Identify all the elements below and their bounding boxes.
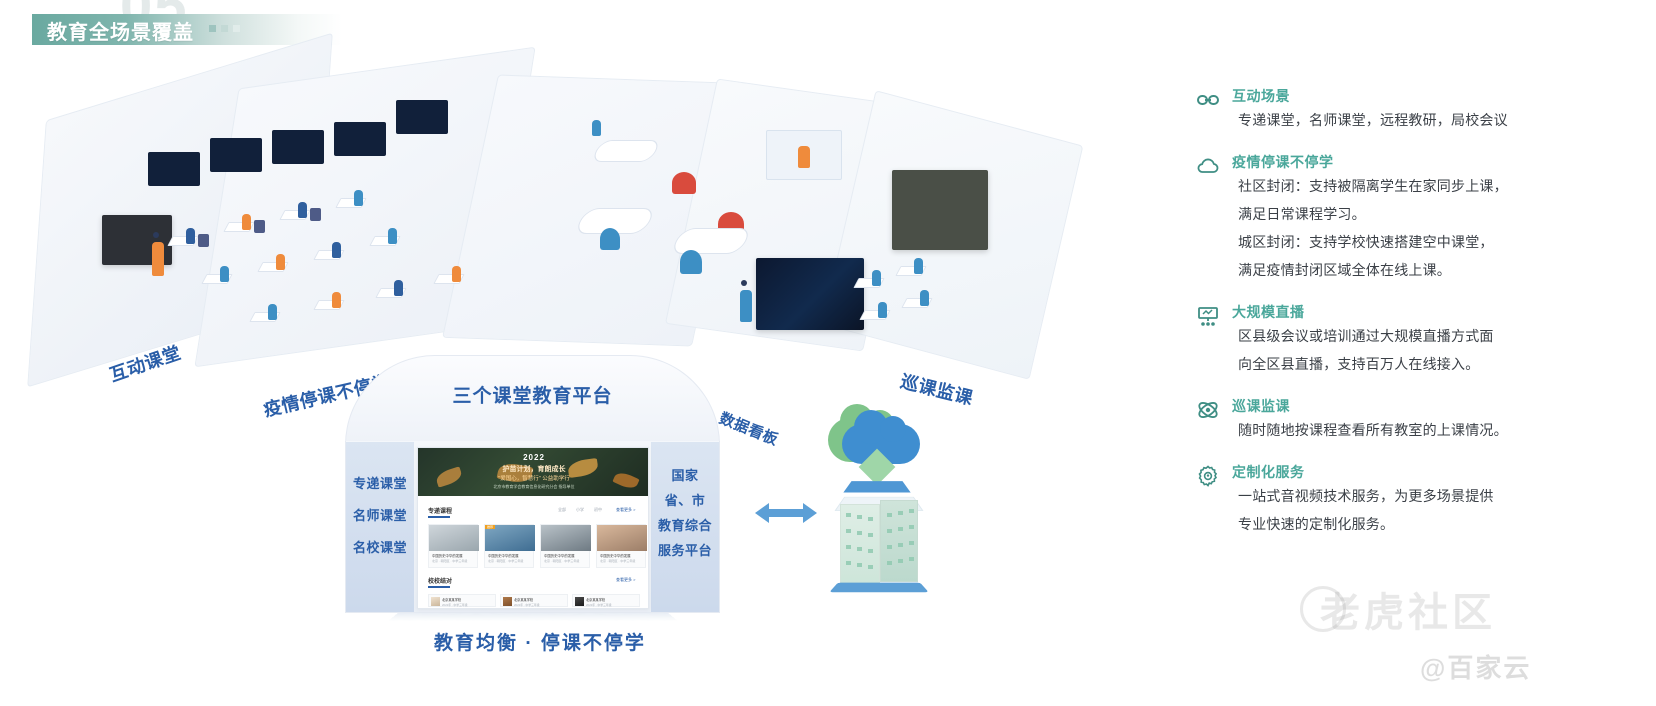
feature-line: 满足日常课程学习。 bbox=[1238, 200, 1630, 228]
projector-icon bbox=[1196, 304, 1220, 328]
monitoring-student bbox=[878, 302, 887, 318]
building-window bbox=[898, 527, 903, 531]
building-window bbox=[868, 549, 873, 553]
wall-screen-3 bbox=[272, 130, 324, 164]
meeting-attendee bbox=[680, 250, 702, 274]
feature-title: 互动场景 bbox=[1232, 86, 1630, 106]
student-figure bbox=[388, 228, 397, 244]
school-row-subtitle: 2022年 · 中学三年级 bbox=[586, 603, 612, 607]
feature-title: 巡课监课 bbox=[1232, 396, 1630, 416]
building-window bbox=[909, 525, 914, 529]
feature-line: 一站式音视频技术服务，为更多场景提供 bbox=[1238, 482, 1630, 510]
school-row-title: 北京某某学校 bbox=[586, 597, 605, 602]
course-card-image bbox=[429, 525, 479, 551]
right-label-3: 教育综合 bbox=[651, 515, 719, 534]
student-figure bbox=[354, 190, 363, 206]
page-header: 05 教育全场景覆盖 bbox=[0, 0, 720, 60]
building-window bbox=[898, 559, 903, 563]
right-label-4: 服务平台 bbox=[651, 540, 719, 559]
student-figure bbox=[332, 242, 341, 258]
course-card-tag: 推荐 bbox=[485, 525, 495, 529]
building-base bbox=[829, 583, 928, 593]
cloud-building-graphic bbox=[820, 418, 940, 598]
cloud-icon bbox=[1196, 154, 1220, 178]
course-card-image bbox=[597, 525, 647, 551]
building-window bbox=[887, 529, 892, 533]
wall-screen-1 bbox=[148, 152, 200, 186]
school-row-subtitle: 2022年 · 中学三年级 bbox=[514, 603, 540, 607]
school-row-title: 北京某某学校 bbox=[442, 597, 461, 602]
left-label-1: 专递课堂 bbox=[346, 473, 414, 492]
section1-more-link[interactable]: 查看更多 > bbox=[616, 507, 635, 513]
feature-item-epidemic-learning: 疫情停课不停学 社区封闭：支持被隔离学生在家同步上课， 满足日常课程学习。 城区… bbox=[1190, 152, 1630, 284]
building-window bbox=[909, 541, 914, 545]
feature-item-class-monitoring: 巡课监课 随时随地按课程查看所有教室的上课情况。 bbox=[1190, 396, 1630, 444]
wall-screen-4 bbox=[334, 122, 386, 156]
course-card[interactable]: 中国历史中华的发展 北京 · 朝阳区 · 中学三年级 bbox=[428, 524, 478, 568]
data-dashboard-screen bbox=[756, 258, 864, 330]
feature-body: 区县级会议或培训通过大规模直播方式面 向全区县直播，支持百万人在线接入。 bbox=[1232, 322, 1630, 378]
feature-title: 大规模直播 bbox=[1232, 302, 1630, 322]
course-card-title: 中国历史中华的发展 bbox=[488, 553, 519, 558]
course-card[interactable]: 中国历史中华的发展 北京 · 朝阳区 · 中学三年级 bbox=[596, 524, 646, 568]
building-face-right bbox=[880, 500, 918, 582]
watermark-tiger: 老虎社区 bbox=[1320, 580, 1496, 638]
section1-underline bbox=[428, 516, 450, 518]
watermark-baijia: @百家云 bbox=[1420, 648, 1531, 685]
student-figure bbox=[220, 266, 229, 282]
link-icon bbox=[1196, 88, 1220, 112]
right-label-1: 国家 bbox=[651, 465, 719, 484]
monitoring-student bbox=[872, 270, 881, 286]
sector-label-data-board: 数据看板 bbox=[716, 407, 781, 450]
education-platform-card: 三个课堂教育平台 专递课堂 名师课堂 名校课堂 国家 省、市 教育综合 服务平台… bbox=[345, 355, 720, 620]
building-window bbox=[898, 511, 903, 515]
feature-item-large-scale-live: 大规模直播 区县级会议或培训通过大规模直播方式面 向全区县直播，支持百万人在线接… bbox=[1190, 302, 1630, 378]
feature-title: 疫情停课不停学 bbox=[1232, 152, 1630, 172]
feature-body: 社区封闭：支持被隔离学生在家同步上课， 满足日常课程学习。 城区封闭：支持学校快… bbox=[1232, 172, 1630, 284]
feature-line: 向全区县直播，支持百万人在线接入。 bbox=[1238, 350, 1630, 378]
atom-icon bbox=[1196, 398, 1220, 422]
student-figure bbox=[268, 304, 277, 320]
student-figure bbox=[276, 254, 285, 270]
course-card-title: 中国历史中华的发展 bbox=[600, 553, 631, 558]
building-window bbox=[857, 563, 862, 567]
student-figure bbox=[394, 280, 403, 296]
wall-screen-2 bbox=[210, 138, 262, 172]
building-window bbox=[857, 531, 862, 535]
page-title: 教育全场景覆盖 bbox=[47, 16, 194, 45]
feature-line: 城区封闭：支持学校快速搭建空中课堂， bbox=[1238, 228, 1630, 256]
teacher-head bbox=[153, 232, 159, 238]
student-chair bbox=[310, 208, 321, 221]
building-window bbox=[846, 529, 851, 533]
school-row[interactable]: 北京某某学校 2022年 · 中学三年级 bbox=[572, 594, 640, 607]
feature-list: 互动场景 专递课堂，名师课堂，远程教研，局校会议 疫情停课不停学 社区封闭：支持… bbox=[1190, 86, 1630, 556]
section1-link-1[interactable]: 全部 bbox=[558, 507, 566, 513]
left-label-2: 名师课堂 bbox=[346, 505, 414, 524]
feature-line: 满足疫情封闭区域全体在线上课。 bbox=[1238, 256, 1630, 284]
sector-label-class-monitoring: 巡课监课 bbox=[898, 367, 976, 410]
cloud-pedestal bbox=[843, 481, 910, 492]
teacher-figure bbox=[152, 242, 164, 276]
course-card[interactable]: 推荐 中国历史中华的发展 北京 · 朝阳区 · 中学三年级 bbox=[484, 524, 534, 568]
feature-line: 区县级会议或培训通过大规模直播方式面 bbox=[1238, 322, 1630, 350]
student-figure bbox=[298, 202, 307, 218]
section1-title: 专递课程 bbox=[428, 506, 452, 515]
building-window bbox=[857, 515, 862, 519]
building-window bbox=[846, 561, 851, 565]
school-row-subtitle: 2022年 · 中学三年级 bbox=[442, 603, 468, 607]
course-card-subtitle: 北京 · 朝阳区 · 中学三年级 bbox=[432, 559, 467, 563]
building-window bbox=[898, 543, 903, 547]
section1-link-3[interactable]: 初中 bbox=[594, 507, 602, 513]
bottom-tagline: 教育均衡 · 停课不停学 bbox=[330, 628, 750, 655]
platform-title: 三个课堂教育平台 bbox=[345, 381, 720, 408]
building-face-left bbox=[840, 504, 880, 586]
double-arrow-icon bbox=[755, 500, 817, 526]
building-window bbox=[887, 545, 892, 549]
building-window bbox=[868, 517, 873, 521]
remote-teacher-figure bbox=[798, 146, 810, 168]
right-label-2: 省、市 bbox=[651, 490, 719, 509]
school-row-title: 北京某某学校 bbox=[514, 597, 533, 602]
school-row[interactable]: 北京某某学校 2022年 · 中学三年级 bbox=[428, 594, 496, 607]
header-dot-3 bbox=[233, 25, 240, 32]
feature-body: 专递课堂，名师课堂，远程教研，局校会议 bbox=[1232, 106, 1630, 134]
feature-line: 专业快速的定制化服务。 bbox=[1238, 510, 1630, 538]
header-dot-2 bbox=[221, 25, 228, 32]
header-dot-1 bbox=[209, 25, 216, 32]
section2-title: 校校结对 bbox=[428, 576, 452, 585]
feature-title: 定制化服务 bbox=[1232, 462, 1630, 482]
building-window bbox=[868, 565, 873, 569]
course-card-subtitle: 北京 · 朝阳区 · 中学三年级 bbox=[600, 559, 635, 563]
meeting-attendee bbox=[592, 120, 601, 136]
hero-headline: 护苗计划，育朗成长 bbox=[418, 464, 649, 474]
platform-base bbox=[388, 613, 678, 621]
course-card-subtitle: 北京 · 朝阳区 · 中学三年级 bbox=[488, 559, 523, 563]
monitoring-student bbox=[914, 258, 923, 274]
school-avatar bbox=[503, 597, 512, 606]
course-card-subtitle: 北京 · 朝阳区 · 中学三年级 bbox=[544, 559, 579, 563]
student-chair bbox=[198, 234, 209, 247]
hero-footnote: 北京市教育学会教育信息化研究分会 指导单位 bbox=[418, 484, 649, 490]
building-window bbox=[909, 557, 914, 561]
monitoring-wall bbox=[892, 170, 988, 250]
school-avatar bbox=[431, 597, 440, 606]
building-window bbox=[887, 513, 892, 517]
gear-icon bbox=[1196, 464, 1220, 488]
feature-body: 一站式音视频技术服务，为更多场景提供 专业快速的定制化服务。 bbox=[1232, 482, 1630, 538]
student-figure bbox=[242, 214, 251, 230]
left-label-3: 名校课堂 bbox=[346, 537, 414, 556]
student-figure bbox=[332, 292, 341, 308]
section2-underline bbox=[428, 586, 450, 588]
building-window bbox=[846, 545, 851, 549]
building-window bbox=[857, 547, 862, 551]
course-card-image bbox=[541, 525, 591, 551]
meeting-attendee bbox=[600, 228, 620, 250]
building-window bbox=[846, 513, 851, 517]
student-chair bbox=[254, 220, 265, 233]
hero-subheadline: "爱国心，智慧行" 公益助学行 bbox=[418, 474, 649, 482]
section1-link-2[interactable]: 小学 bbox=[576, 507, 584, 513]
hero-banner: 2022 护苗计划，育朗成长 "爱国心，智慧行" 公益助学行 北京市教育学会教育… bbox=[418, 448, 649, 496]
course-card[interactable]: 中国历史中华的发展 北京 · 朝阳区 · 中学三年级 bbox=[540, 524, 590, 568]
monitoring-student bbox=[920, 290, 929, 306]
feature-line: 随时随地按课程查看所有教室的上课情况。 bbox=[1238, 416, 1630, 444]
feature-line: 社区封闭：支持被隔离学生在家同步上课， bbox=[1238, 172, 1630, 200]
meeting-attendee bbox=[672, 172, 696, 194]
platform-browser-mock[interactable]: 2022 护苗计划，育朗成长 "爱国心，智慧行" 公益助学行 北京市教育学会教育… bbox=[417, 447, 649, 609]
building-window bbox=[909, 509, 914, 513]
student-figure bbox=[186, 228, 195, 244]
course-card-title: 中国历史中华的发展 bbox=[544, 553, 575, 558]
watermark-ring bbox=[1300, 586, 1346, 632]
wall-screen-5 bbox=[396, 100, 448, 134]
platform-left-panel bbox=[346, 442, 414, 612]
hero-year: 2022 bbox=[418, 453, 649, 462]
building-window bbox=[887, 561, 892, 565]
building-window bbox=[868, 533, 873, 537]
dashboard-presenter-head bbox=[741, 280, 747, 286]
feature-item-custom-service: 定制化服务 一站式音视频技术服务，为更多场景提供 专业快速的定制化服务。 bbox=[1190, 462, 1630, 538]
course-card-title: 中国历史中华的发展 bbox=[432, 553, 463, 558]
school-avatar bbox=[575, 597, 584, 606]
feature-line: 专递课堂，名师课堂，远程教研，局校会议 bbox=[1238, 106, 1630, 134]
school-row[interactable]: 北京某某学校 2022年 · 中学三年级 bbox=[500, 594, 568, 607]
feature-body: 随时随地按课程查看所有教室的上课情况。 bbox=[1232, 416, 1630, 444]
student-figure bbox=[452, 266, 461, 282]
section2-more-link[interactable]: 查看更多 > bbox=[616, 577, 635, 583]
feature-item-interactive-scenarios: 互动场景 专递课堂，名师课堂，远程教研，局校会议 bbox=[1190, 86, 1630, 134]
dashboard-presenter bbox=[740, 290, 752, 322]
